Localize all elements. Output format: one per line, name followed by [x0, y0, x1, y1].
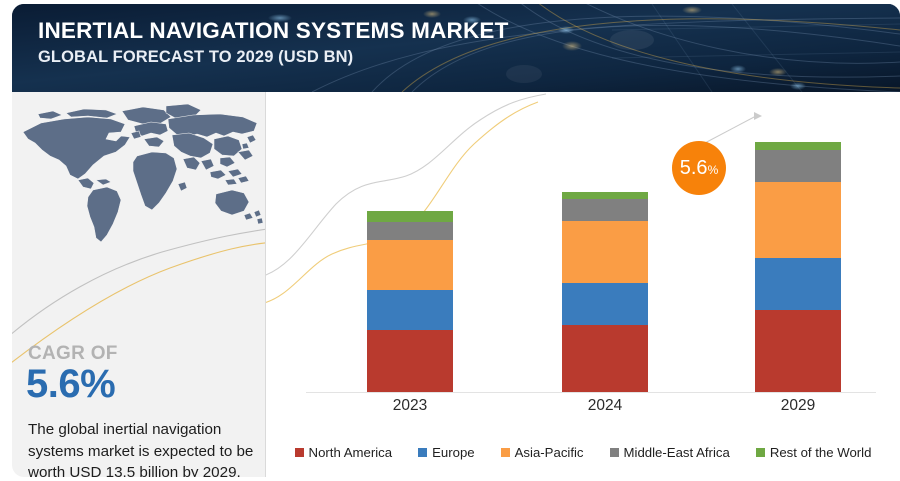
bar-segment-rest-of-the-world	[755, 142, 841, 150]
legend-swatch-asia-pacific	[501, 448, 510, 457]
cagr-value: 5.6%	[26, 364, 115, 404]
legend-item-asia-pacific[interactable]: Asia-Pacific	[501, 445, 584, 460]
bar-segment-asia-pacific	[562, 221, 648, 283]
cagr-callout-value: 5.6	[680, 141, 708, 195]
x-axis-labels: 2023 2024 2029	[266, 397, 900, 425]
bar-2024	[562, 192, 648, 392]
legend-label-europe: Europe	[432, 445, 475, 460]
cagr-label: CAGR OF	[28, 344, 118, 363]
page-subtitle: GLOBAL FORECAST TO 2029 (USD BN)	[38, 48, 509, 68]
cagr-callout-bubble: 5.6%	[672, 141, 726, 195]
legend-swatch-europe	[418, 448, 427, 457]
chart-baseline	[306, 392, 876, 393]
bar-segment-europe	[562, 283, 648, 325]
chart-panel: 5.6% 2023 2024 2029 North America	[266, 92, 900, 477]
legend-label-middle-east-africa: Middle-East Africa	[624, 445, 730, 460]
bar-segment-rest-of-the-world	[367, 211, 453, 222]
bar-segment-rest-of-the-world	[562, 192, 648, 199]
legend-item-rest-of-the-world[interactable]: Rest of the World	[756, 445, 872, 460]
infographic-root: INERTIAL NAVIGATION SYSTEMS MARKET GLOBA…	[0, 0, 900, 481]
legend-swatch-rest-of-the-world	[756, 448, 765, 457]
stacked-bar-chart: 5.6% 2023 2024 2029 North America	[266, 92, 900, 477]
x-label-2024: 2024	[545, 397, 665, 415]
left-info-panel: CAGR OF 5.6% The global inertial navigat…	[12, 92, 265, 477]
legend-swatch-middle-east-africa	[610, 448, 619, 457]
bar-2023	[367, 211, 453, 392]
page-title: INERTIAL NAVIGATION SYSTEMS MARKET	[38, 18, 509, 45]
legend-item-north-america[interactable]: North America	[295, 445, 393, 460]
bar-2029	[755, 142, 841, 392]
x-label-2029: 2029	[738, 397, 858, 415]
bar-segment-north-america	[367, 330, 453, 392]
legend-label-north-america: North America	[309, 445, 393, 460]
bar-segment-europe	[367, 290, 453, 330]
bar-segment-asia-pacific	[367, 240, 453, 290]
legend-item-europe[interactable]: Europe	[418, 445, 475, 460]
body-area: CAGR OF 5.6% The global inertial navigat…	[12, 92, 900, 477]
legend-swatch-north-america	[295, 448, 304, 457]
bar-segment-north-america	[562, 325, 648, 392]
chart-legend: North America Europe Asia-Pacific Middle…	[266, 440, 900, 464]
world-map-icon	[18, 104, 263, 249]
bar-segment-europe	[755, 258, 841, 310]
bar-segment-middle-east-africa	[562, 199, 648, 221]
bar-segment-middle-east-africa	[367, 222, 453, 240]
market-description: The global inertial navigation systems m…	[28, 419, 254, 477]
bar-segment-north-america	[755, 310, 841, 392]
header-banner: INERTIAL NAVIGATION SYSTEMS MARKET GLOBA…	[12, 4, 900, 92]
x-label-2023: 2023	[350, 397, 470, 415]
legend-label-rest-of-the-world: Rest of the World	[770, 445, 872, 460]
legend-label-asia-pacific: Asia-Pacific	[515, 445, 584, 460]
cagr-callout-unit: %	[708, 143, 719, 197]
legend-item-middle-east-africa[interactable]: Middle-East Africa	[610, 445, 730, 460]
bar-segment-middle-east-africa	[755, 150, 841, 182]
bar-segment-asia-pacific	[755, 182, 841, 258]
